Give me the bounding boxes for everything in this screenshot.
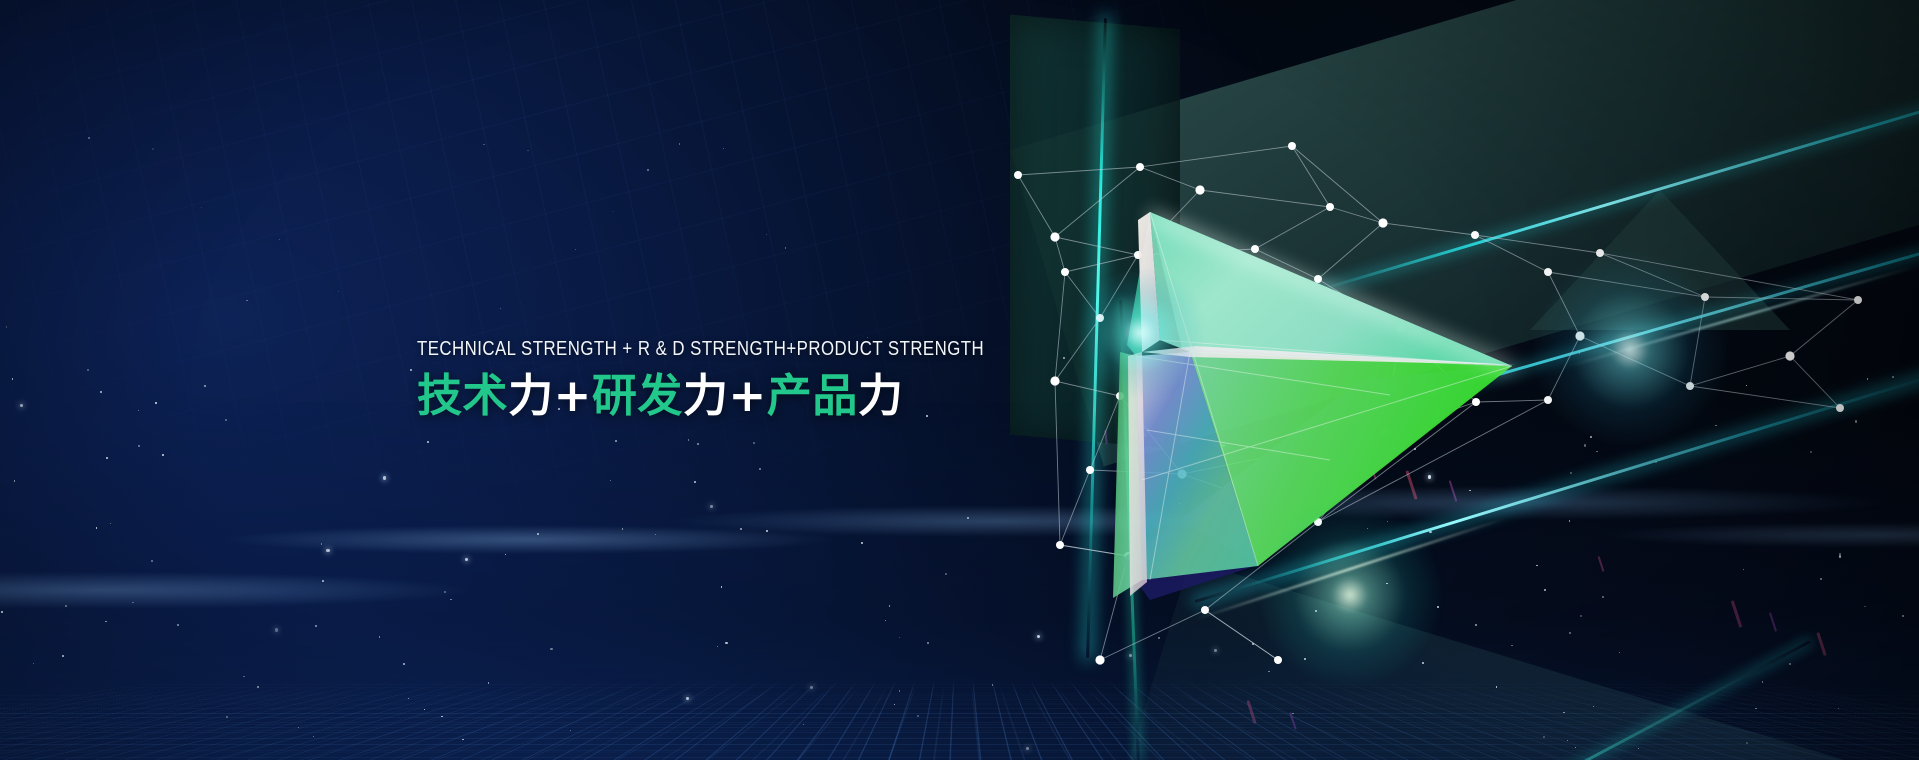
- light-beam-diagonal-4: [1350, 640, 1810, 760]
- particle-dot: [613, 211, 614, 212]
- particle-dot: [1855, 420, 1857, 422]
- particle-dot: [96, 527, 97, 528]
- particle-dot: [483, 144, 484, 145]
- particle-dot: [570, 730, 571, 731]
- network-node: [1314, 275, 1322, 283]
- particle-dot: [1810, 451, 1812, 453]
- particle-dot: [275, 628, 278, 631]
- title-part-6: 产品: [767, 369, 858, 422]
- particle-dot: [315, 625, 317, 627]
- particle-dot: [383, 476, 386, 479]
- light-beam-vertical: [1086, 18, 1107, 658]
- title-part-4: 力: [683, 369, 729, 422]
- arrow-wireframe: [1136, 212, 1512, 580]
- network-edge: [1292, 146, 1330, 207]
- network-node: [1326, 203, 1334, 211]
- particle-dot: [1569, 632, 1571, 634]
- accent-tick: [1405, 470, 1417, 499]
- particle-dot: [14, 480, 15, 481]
- particle-dot: [379, 636, 380, 637]
- particle-dot: [88, 137, 89, 138]
- network-node: [1096, 314, 1104, 322]
- network-edge: [1385, 402, 1476, 433]
- particle-dot: [1867, 378, 1868, 379]
- network-node: [1056, 541, 1064, 549]
- network-edge: [1205, 522, 1318, 610]
- accent-tick: [1769, 612, 1777, 632]
- particle-dot: [1746, 385, 1747, 386]
- particle-dot: [1369, 405, 1372, 408]
- particle-dot: [655, 534, 656, 535]
- particle-dot: [408, 698, 409, 699]
- particle-dot: [899, 637, 900, 638]
- accent-tick: [1369, 462, 1376, 480]
- particle-dot: [152, 148, 153, 149]
- network-edge: [1055, 272, 1065, 381]
- particle-dot: [138, 445, 140, 447]
- network-edge: [1690, 297, 1705, 386]
- light-beam-diagonal-1: [1280, 16, 1919, 303]
- particle-dot: [279, 239, 280, 240]
- particle-dot: [1268, 671, 1269, 672]
- particle-dot: [1580, 615, 1582, 617]
- particle-dot: [450, 599, 451, 600]
- network-edge: [1138, 249, 1255, 255]
- particle-dot: [1252, 643, 1253, 644]
- network-node: [1544, 396, 1552, 404]
- network-edge: [1476, 400, 1548, 402]
- particle-dot: [1584, 444, 1586, 446]
- particle-dot: [861, 542, 862, 543]
- particle-dot: [1292, 400, 1293, 401]
- network-edge: [1018, 175, 1055, 237]
- particle-dot: [1469, 490, 1470, 491]
- particle-dot: [1638, 748, 1639, 749]
- network-node: [1136, 163, 1144, 171]
- particle-dot: [321, 543, 322, 544]
- arrow-shadow-facet: [1180, 365, 1510, 565]
- particle-dot: [162, 454, 164, 456]
- wave-mesh-back: [0, 687, 1919, 760]
- light-beam-diagonal-3: [1195, 337, 1919, 603]
- particle-dot: [1259, 378, 1260, 379]
- particle-dot: [465, 558, 468, 561]
- particle-dot: [1037, 635, 1040, 638]
- network-edge: [1600, 253, 1705, 297]
- network-edge: [1385, 330, 1400, 433]
- arrow-facet-upper-right: [1182, 345, 1510, 365]
- particle-dot: [1602, 596, 1604, 598]
- particle-dot: [1593, 706, 1594, 707]
- network-edge: [1140, 167, 1200, 190]
- particle-dot: [1902, 615, 1904, 617]
- arrow-facet-main-top: [1150, 212, 1512, 366]
- accent-tick: [1731, 600, 1743, 628]
- network-edge: [1400, 330, 1476, 402]
- accent-tick: [1289, 712, 1296, 730]
- particle-dot: [679, 143, 680, 144]
- hero-banner: TECHNICAL STRENGTH + R & D STRENGTH+PROD…: [0, 0, 1919, 760]
- particle-dot: [1755, 708, 1756, 709]
- network-node: [1380, 428, 1389, 437]
- particle-dot: [917, 715, 919, 717]
- lens-flare-bottom: [1255, 500, 1445, 690]
- network-edge: [1790, 356, 1840, 408]
- particle-dot: [1590, 436, 1592, 438]
- particle-dot: [204, 385, 206, 387]
- accent-tick: [1816, 632, 1826, 656]
- particle-dot: [899, 690, 900, 691]
- particle-dot: [1387, 521, 1388, 522]
- accent-tick: [1117, 470, 1120, 482]
- particle-dot: [155, 402, 157, 404]
- network-edge: [1100, 556, 1128, 660]
- network-edge: [1060, 545, 1128, 556]
- arrow-facet-right-green: [1190, 352, 1512, 566]
- network-edge: [1205, 610, 1278, 660]
- arrow-facet-top: [1150, 212, 1510, 365]
- network-node: [1014, 171, 1022, 179]
- particle-dot: [992, 684, 993, 685]
- particle-dot: [500, 308, 501, 309]
- network-edge: [1055, 167, 1140, 237]
- particle-dot: [1543, 736, 1545, 738]
- particle-dot: [688, 439, 689, 440]
- particle-dot: [1567, 740, 1568, 741]
- particle-dot: [1315, 610, 1317, 612]
- network-node: [1061, 268, 1069, 276]
- particle-dot: [1304, 658, 1306, 660]
- particle-dot: [721, 586, 722, 587]
- lens-flare-streak-bottom: [1193, 517, 1507, 621]
- particle-dot: [403, 663, 405, 665]
- particle-dot: [967, 517, 969, 519]
- particle-dot: [885, 620, 886, 621]
- particle-dot: [647, 169, 648, 170]
- network-node: [1378, 218, 1387, 227]
- particle-dot: [622, 528, 623, 529]
- network-edge: [1060, 470, 1090, 545]
- particle-dot: [927, 642, 929, 644]
- network-edge: [1065, 255, 1138, 272]
- network-edge: [1548, 272, 1705, 297]
- network-edge: [1182, 433, 1385, 474]
- particle-dot: [1746, 742, 1748, 744]
- network-edge: [1200, 190, 1330, 207]
- particle-dot: [894, 704, 895, 705]
- network-edge: [1790, 300, 1858, 356]
- arrow-facet-inner: [1136, 352, 1258, 580]
- network-node: [1201, 606, 1209, 614]
- network-node: [1086, 466, 1094, 474]
- particle-dot: [246, 300, 247, 301]
- particle-dot: [1179, 503, 1180, 504]
- particle-dot: [488, 682, 489, 683]
- particle-dot: [138, 410, 139, 411]
- particle-dot: [1570, 472, 1572, 474]
- network-node: [1396, 326, 1404, 334]
- particle-dot: [338, 291, 339, 292]
- particle-dot: [410, 369, 412, 371]
- particle-dot: [1839, 555, 1841, 557]
- particle-dot: [151, 560, 153, 562]
- network-edge: [1055, 237, 1065, 272]
- particle-dot: [1511, 645, 1512, 646]
- network-edge: [1060, 545, 1128, 556]
- network-edge: [1065, 272, 1100, 318]
- network-edge: [1580, 336, 1690, 386]
- particle-dot: [615, 440, 617, 442]
- network-edge: [1100, 255, 1138, 318]
- particle-dot: [33, 663, 34, 664]
- accent-tick: [1104, 430, 1107, 444]
- network-edge: [1292, 146, 1383, 223]
- particle-dot: [1655, 461, 1657, 463]
- particle-dot: [110, 523, 111, 524]
- particle-dot: [1437, 606, 1439, 608]
- particle-dot: [740, 528, 742, 530]
- network-edge: [1255, 249, 1318, 279]
- particle-dot: [1367, 528, 1368, 529]
- particle-dot: [1762, 681, 1763, 682]
- particle-dot: [527, 150, 528, 151]
- network-node: [1596, 249, 1604, 257]
- network-edge: [1090, 396, 1120, 470]
- particle-dot: [1563, 712, 1564, 713]
- particle-dot: [1839, 553, 1841, 555]
- particle-dot: [106, 457, 108, 459]
- wave-mesh-front: [0, 681, 1919, 760]
- accent-tick: [1449, 480, 1458, 502]
- network-node: [1854, 296, 1862, 304]
- particle-dot: [1428, 475, 1431, 478]
- particle-dot: [1496, 686, 1497, 687]
- wave-ambient-glow: [0, 400, 1919, 760]
- network-node: [1785, 351, 1794, 360]
- eyebrow-text: TECHNICAL STRENGTH + R & D STRENGTH+PROD…: [417, 338, 925, 361]
- particle-dot: [1820, 578, 1822, 580]
- particle-dot: [537, 533, 539, 535]
- particle-dot: [1892, 376, 1894, 378]
- network-edge: [1140, 146, 1292, 167]
- particle-dot: [65, 605, 67, 607]
- network-node: [1134, 251, 1142, 259]
- particle-dot: [1429, 531, 1431, 533]
- network-node: [1195, 185, 1204, 194]
- particle-dot: [177, 624, 179, 626]
- arrow-bevel-lower: [1128, 352, 1147, 596]
- network-edge: [1690, 386, 1840, 408]
- light-beam-left: [1119, 300, 1139, 760]
- particle-dot: [810, 686, 813, 689]
- angular-plane-large: [1010, 0, 1919, 466]
- arrow-facet-left: [1127, 212, 1160, 356]
- particle-dot: [505, 554, 506, 555]
- accent-tick: [1341, 452, 1352, 478]
- network-edge: [1018, 167, 1140, 175]
- particle-dot: [441, 716, 442, 717]
- particle-dot: [610, 480, 611, 481]
- particle-dot: [257, 686, 259, 688]
- particle-dot: [1544, 589, 1546, 591]
- particle-dot: [697, 443, 698, 444]
- wave-ridge-glow: [0, 420, 1919, 650]
- particle-dot: [803, 724, 804, 725]
- network-node: [1251, 245, 1259, 253]
- particle-dot: [1158, 637, 1160, 639]
- network-edge: [1318, 279, 1400, 330]
- particle-dot: [313, 736, 314, 737]
- title-part-7: 力: [858, 369, 904, 422]
- accent-tick: [1598, 556, 1605, 572]
- particle-dot: [322, 580, 324, 582]
- network-node: [1095, 655, 1104, 664]
- particle-dot: [1214, 649, 1217, 652]
- particle-dot: [225, 419, 227, 421]
- title-part-1: 力: [508, 369, 554, 422]
- particle-dot: [1575, 747, 1576, 748]
- network-edge: [1548, 336, 1580, 400]
- lens-flare-vertical: [1075, 268, 1205, 398]
- network-edge: [1705, 297, 1858, 300]
- particle-dot: [424, 709, 425, 710]
- network-node: [1116, 392, 1124, 400]
- network-node: [1686, 382, 1694, 390]
- arrow-shadow-facet-2: [1120, 520, 1258, 600]
- particle-dot: [1838, 708, 1839, 709]
- network-edge: [1138, 190, 1200, 255]
- particle-dot: [1569, 520, 1570, 521]
- lens-flare-right: [1530, 250, 1730, 450]
- particle-dot: [1475, 624, 1477, 626]
- particle-dot: [1129, 654, 1132, 657]
- network-edge: [1205, 610, 1278, 660]
- particle-dot: [694, 481, 696, 483]
- arrow-facet-left-lower: [1113, 352, 1142, 598]
- particle-dot: [1292, 713, 1293, 714]
- particle-dot: [766, 234, 767, 235]
- particle-dot: [20, 404, 23, 407]
- particle-dot: [766, 530, 767, 531]
- arrow-bevel-upper: [1138, 212, 1160, 352]
- light-beam-diagonal-2: [1300, 187, 1919, 432]
- particle-dot: [945, 573, 947, 575]
- particle-dot: [1579, 353, 1580, 354]
- particle-dot: [1392, 427, 1393, 428]
- particle-dot: [1, 611, 2, 612]
- particle-dot: [6, 326, 7, 327]
- particle-dot: [1197, 508, 1200, 511]
- arrow-edge-glow: [1148, 210, 1514, 372]
- title-part-3: 研发: [592, 369, 683, 422]
- particle-dot: [1536, 565, 1537, 566]
- particle-dot: [725, 642, 727, 644]
- network-edge: [1055, 381, 1120, 396]
- particle-dot: [298, 727, 299, 728]
- network-edge: [1600, 253, 1858, 300]
- title-part-5: +: [729, 369, 767, 422]
- network-edge: [1475, 235, 1600, 253]
- particle-dot: [889, 605, 890, 606]
- network-edge: [1475, 235, 1548, 272]
- network-edge: [1090, 470, 1182, 474]
- particle-dot: [1271, 531, 1272, 532]
- title-part-2: +: [554, 369, 592, 422]
- network-node: [1836, 404, 1844, 412]
- particle-dot: [326, 549, 329, 552]
- particle-dot: [462, 739, 463, 740]
- network-edge: [1120, 396, 1182, 474]
- network-edge: [1055, 381, 1060, 545]
- particle-dot: [1596, 451, 1597, 452]
- particle-dot: [550, 648, 552, 650]
- particle-dot: [1789, 663, 1791, 665]
- network-node: [1314, 518, 1322, 526]
- particle-dot: [1864, 606, 1865, 607]
- network-node: [1471, 231, 1479, 239]
- network-node: [1701, 293, 1709, 301]
- particle-dot: [785, 247, 786, 248]
- lens-flare-streak-right: [1567, 266, 1914, 367]
- headline-block: TECHNICAL STRENGTH + R & D STRENGTH+PROD…: [417, 338, 1037, 421]
- network-node: [1472, 398, 1480, 406]
- network-edge: [1318, 400, 1548, 522]
- network-edge: [1318, 402, 1476, 522]
- particle-dot: [132, 602, 133, 603]
- particle-dot: [427, 441, 429, 443]
- network-node: [1124, 552, 1132, 560]
- particle-dot: [1743, 569, 1744, 570]
- network-node: [1544, 268, 1552, 276]
- particle-dot: [1422, 662, 1424, 664]
- arrow-bevel-inner-top: [1142, 346, 1516, 365]
- particle-dot: [100, 391, 101, 392]
- network-node: [1575, 331, 1584, 340]
- particle-dot: [1222, 444, 1225, 447]
- particle-dot: [1132, 401, 1134, 403]
- network-node: [1274, 656, 1282, 664]
- particle-dot: [1619, 652, 1620, 653]
- page-title: 技术力+研发力+产品力: [417, 370, 1037, 422]
- network-node: [1177, 469, 1186, 478]
- particle-dot: [201, 207, 202, 208]
- network-node: [1288, 142, 1296, 150]
- particle-dot: [1414, 448, 1416, 450]
- network-edge: [1100, 610, 1205, 660]
- network-edge: [1255, 207, 1330, 249]
- particle-dot: [753, 442, 754, 443]
- network-edge: [1182, 474, 1318, 522]
- particle-dot: [1386, 583, 1387, 584]
- particle-dot: [717, 646, 718, 647]
- angular-plane-triangle: [1530, 190, 1790, 330]
- network-edge: [1330, 207, 1383, 223]
- particle-dot: [710, 505, 713, 508]
- particle-dot: [759, 468, 761, 470]
- network-node: [1050, 232, 1059, 241]
- particle-dot: [226, 716, 228, 718]
- particle-dot: [1143, 435, 1144, 436]
- particle-dot: [62, 655, 64, 657]
- particle-dot: [575, 249, 576, 250]
- network-edge: [1690, 356, 1790, 386]
- particle-dot: [1026, 747, 1029, 750]
- network-edge: [1548, 272, 1580, 336]
- particle-dot: [105, 621, 106, 622]
- network-edge: [1055, 237, 1138, 255]
- network-node: [1050, 376, 1059, 385]
- network-edge: [1383, 223, 1475, 235]
